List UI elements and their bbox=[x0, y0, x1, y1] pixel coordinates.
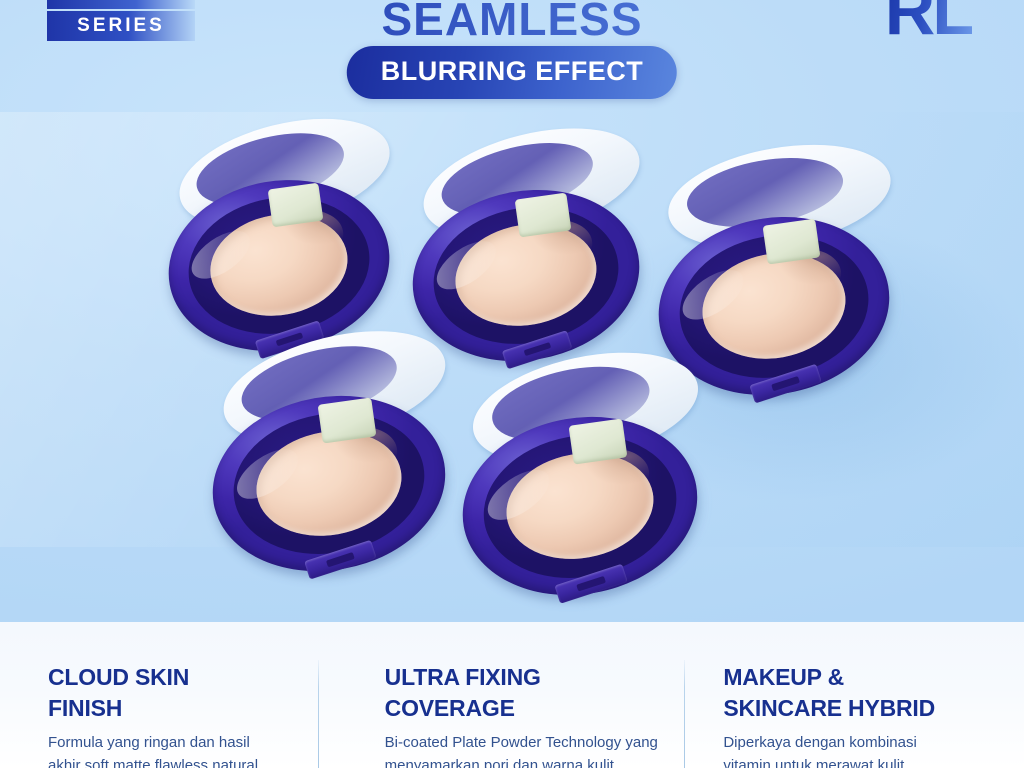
compact-hinge bbox=[317, 398, 376, 444]
compact-powder-4 bbox=[212, 342, 446, 570]
compact-hinge bbox=[268, 182, 324, 226]
feature-column-cloud-skin-finish: CLOUD SKIN FINISH Formula yang ringan da… bbox=[0, 622, 349, 768]
headline-seamless: SEAMLESS bbox=[0, 0, 1024, 46]
compact-powder-1 bbox=[168, 128, 390, 350]
blurring-effect-label: BLURRING EFFECT bbox=[381, 56, 643, 86]
compact-hinge bbox=[762, 219, 820, 265]
compact-hinge bbox=[515, 192, 572, 237]
feature-column-makeup-skincare-hybrid: MAKEUP & SKINCARE HYBRID Diperkaya denga… bbox=[685, 622, 1024, 768]
brand-logo: RL bbox=[885, 0, 972, 50]
feature-title: CLOUD SKIN FINISH bbox=[48, 662, 323, 723]
feature-panel: CLOUD SKIN FINISH Formula yang ringan da… bbox=[0, 622, 1024, 768]
feature-body: Formula yang ringan dan hasil akhir soft… bbox=[48, 732, 323, 768]
product-poster: SERIES SEAMLESS BLURRING EFFECT RL CLOUD… bbox=[0, 0, 1024, 768]
feature-body: Bi-coated Plate Powder Technology yang m… bbox=[385, 732, 660, 768]
feature-body: Diperkaya dengan kombinasi vitamin untuk… bbox=[723, 732, 998, 768]
hero-photo-area: SERIES SEAMLESS BLURRING EFFECT RL bbox=[0, 0, 1024, 622]
compact-hinge bbox=[568, 419, 627, 466]
feature-title: ULTRA FIXING COVERAGE bbox=[385, 662, 660, 723]
compact-powder-3 bbox=[658, 162, 890, 394]
compact-powder-5 bbox=[462, 362, 698, 594]
feature-column-ultra-fixing-coverage: ULTRA FIXING COVERAGE Bi-coated Plate Po… bbox=[349, 622, 686, 768]
compact-powder-2 bbox=[412, 138, 640, 360]
feature-title: MAKEUP & SKINCARE HYBRID bbox=[723, 662, 998, 723]
blurring-effect-pill: BLURRING EFFECT bbox=[347, 46, 677, 99]
